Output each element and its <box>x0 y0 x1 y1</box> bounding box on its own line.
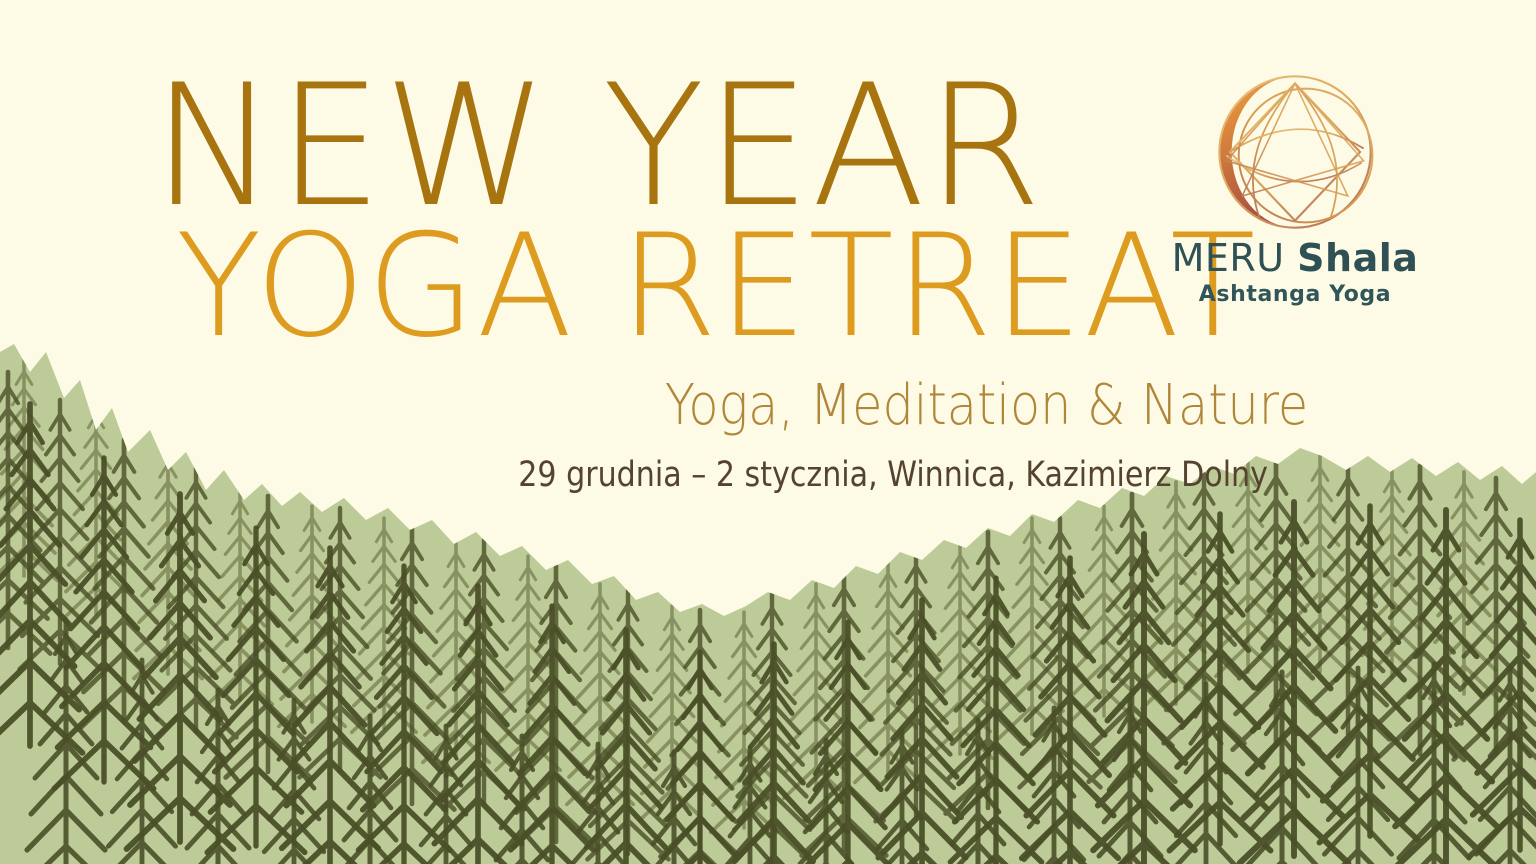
meru-shala-logo[interactable]: MERU Shala Ashtanga Yoga <box>1140 64 1450 307</box>
date-location-text: 29 grudnia – 2 stycznia, Winnica, Kazimi… <box>518 458 1390 493</box>
logo-tagline: Ashtanga Yoga <box>1140 282 1450 307</box>
logo-brand-shala: Shala <box>1297 236 1418 280</box>
logo-brand-meru: MERU <box>1172 236 1298 280</box>
poster-canvas: NEW YEAR YOGA RETREAT <box>0 0 1536 864</box>
date-location-label: 29 grudnia – 2 stycznia, Winnica, Kazimi… <box>518 458 1268 493</box>
meru-mandala-icon <box>1207 64 1383 240</box>
headline-line-yoga-retreat: YOGA RETREAT <box>176 216 1257 358</box>
subtitle-text: Yoga, Meditation & Nature <box>665 378 1396 434</box>
logo-wordmark: MERU Shala <box>1140 238 1450 278</box>
subtitle-label: Yoga, Meditation & Nature <box>665 378 1308 434</box>
